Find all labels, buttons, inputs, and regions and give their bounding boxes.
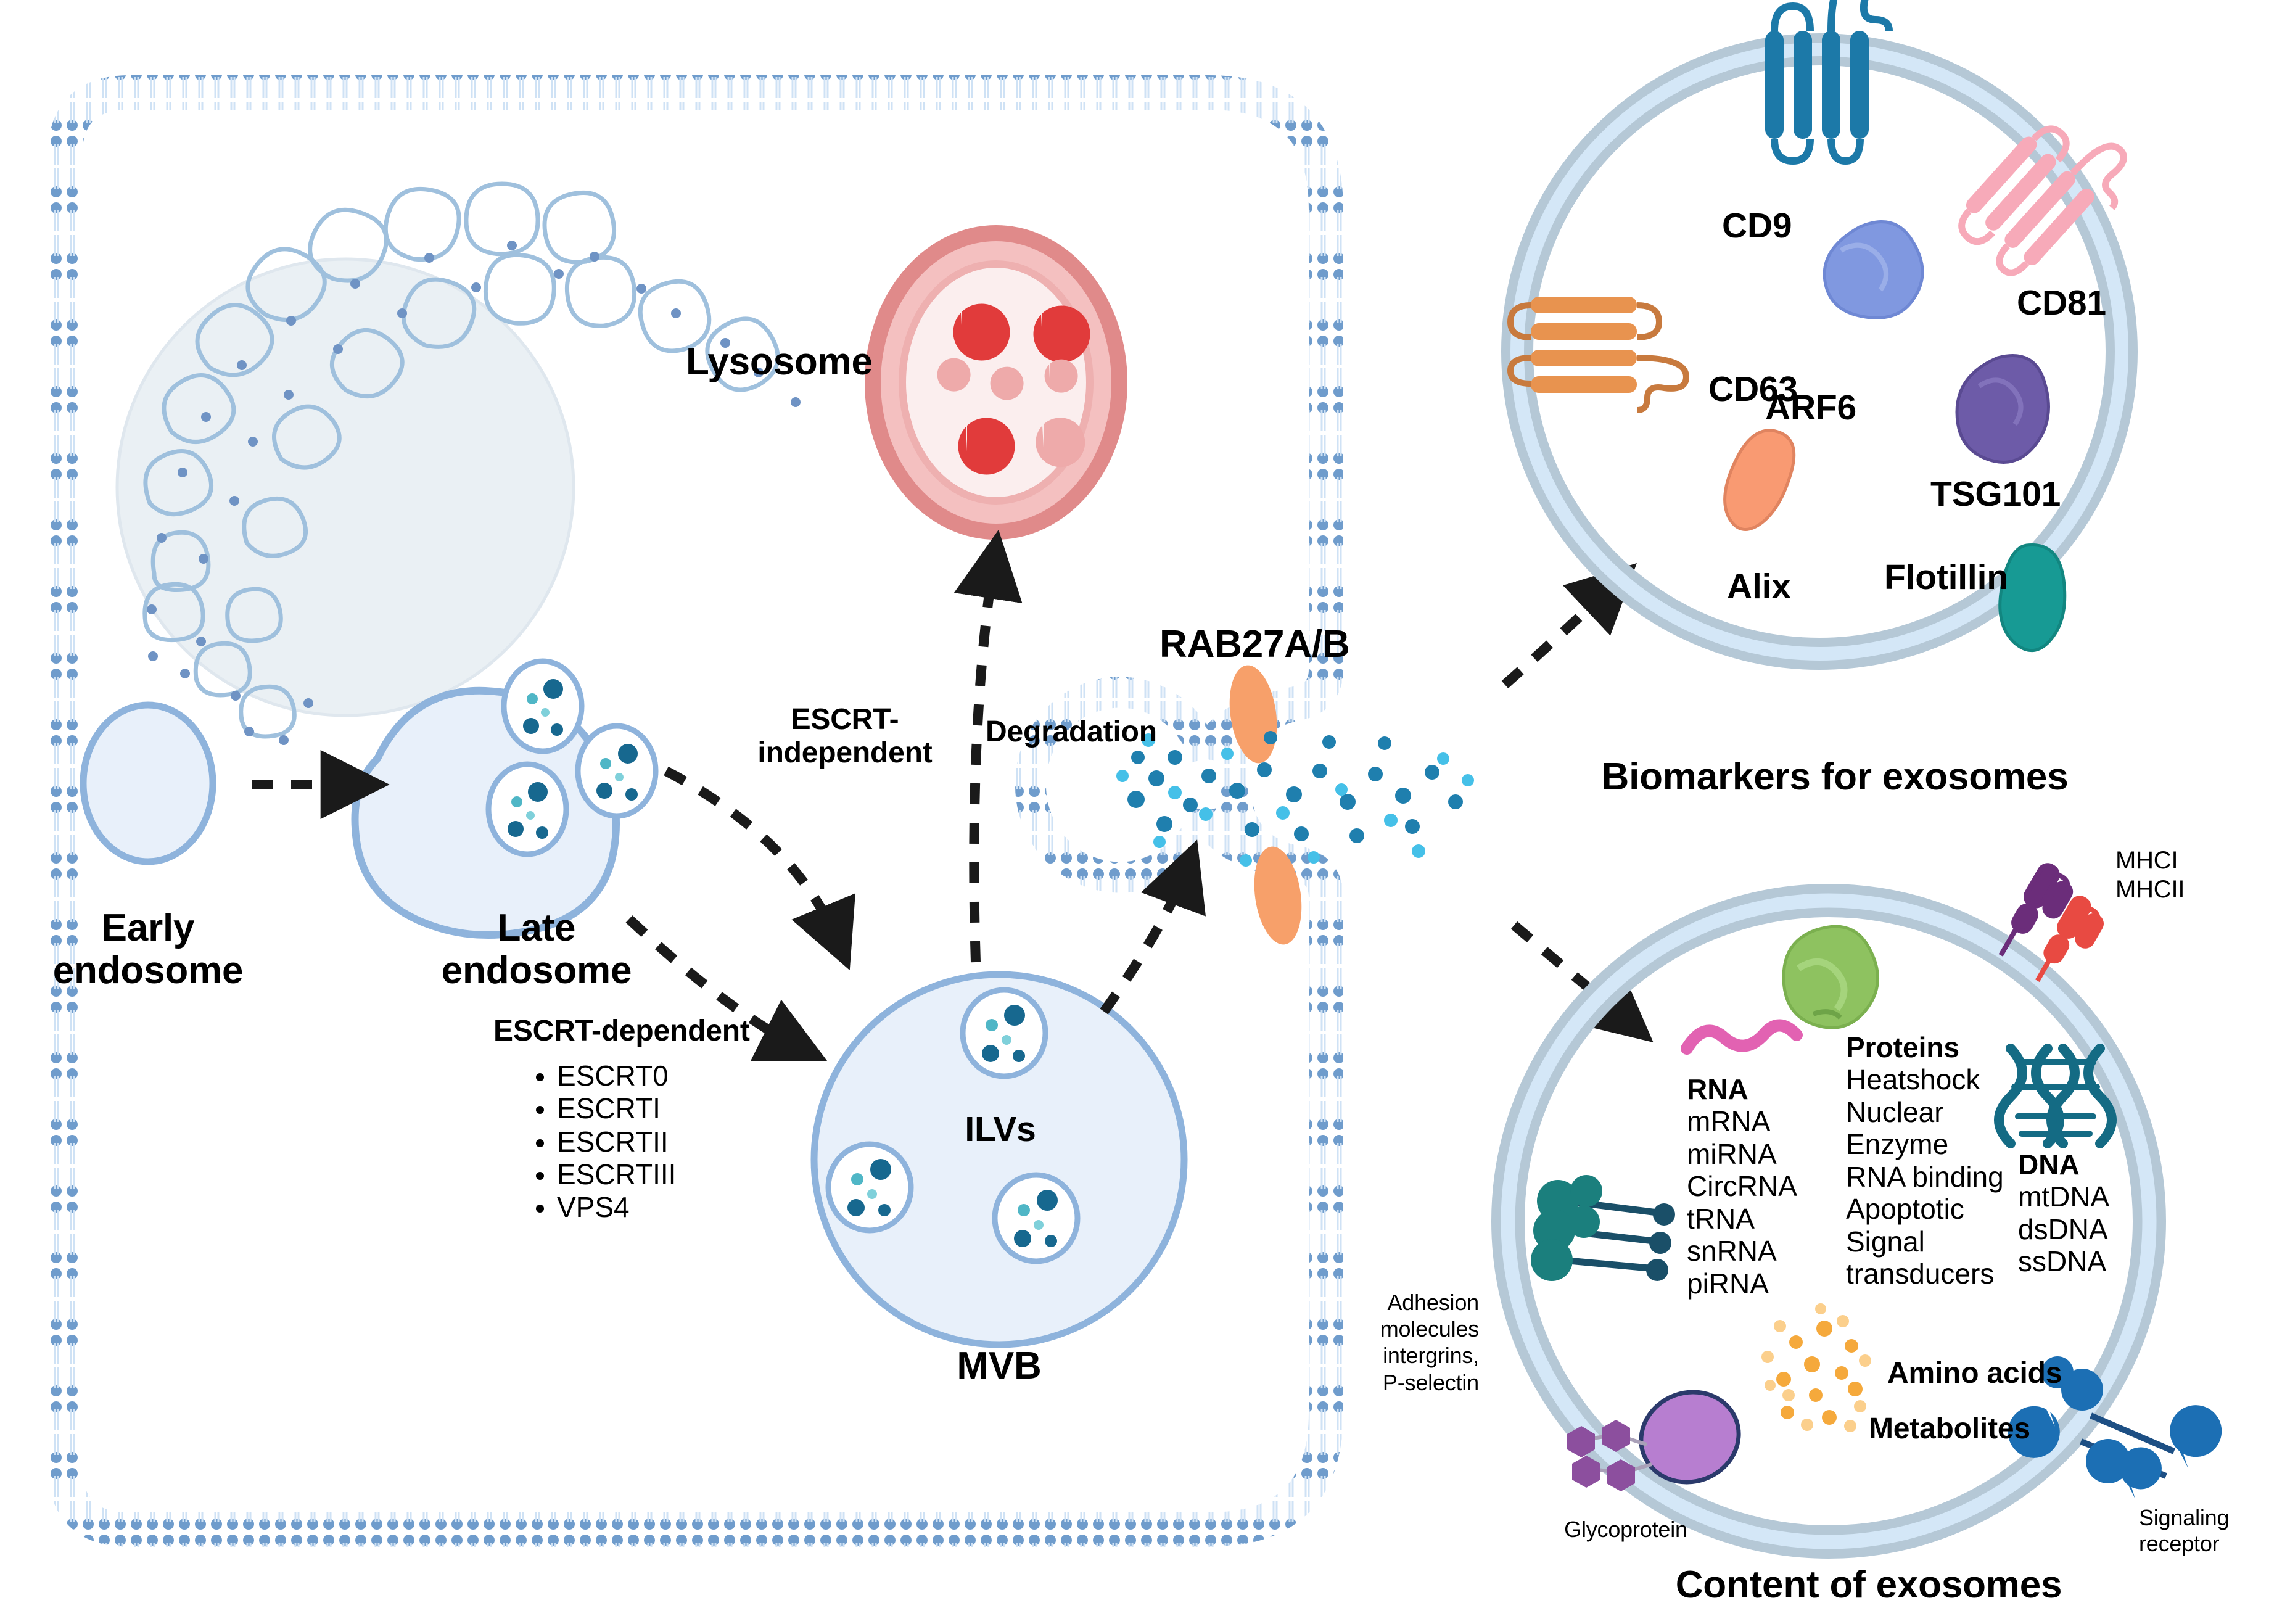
label-metabolites: Metabolites [1869,1412,2030,1446]
protein-item: RNA binding [1846,1161,2004,1193]
arrow-mvb-to-lysosome [974,558,994,962]
label-late-endosome: Late endosome [442,907,632,992]
tsg101-protein-icon [1957,355,2048,462]
dna-item: ssDNA [2018,1245,2109,1277]
protein-item: Nuclear [1846,1096,2004,1128]
escrt-item: VPS4 [557,1191,676,1224]
label-mvb: MVB [957,1345,1041,1387]
biomarker-exosome-icon [1510,0,2144,654]
protein-item: Apoptotic [1846,1193,2004,1225]
adhesion-molecule-icon [1531,1175,1675,1281]
rna-item: mRNA [1687,1105,1797,1137]
group-title-dna: DNA [2018,1148,2109,1181]
label-escrt-dependent: ESCRT-dependent [493,1015,750,1048]
rna-item: snRNA [1687,1235,1797,1267]
label-cd81: CD81 [2017,284,2106,323]
group-title-proteins: Proteins [1846,1031,2004,1063]
dna-helix-icon [1999,1049,2112,1144]
alix-protein-icon [1715,422,1802,538]
label-lysosome: Lysosome [686,340,873,383]
label-signaling-receptor: Signaling receptor [2139,1505,2229,1557]
flotillin-protein-icon [2000,545,2065,650]
early-endosome-icon [83,705,213,862]
label-cd9: CD9 [1722,207,1792,246]
label-tsg101: TSG101 [1930,475,2061,514]
escrt-component-list: ESCRT0 ESCRTI ESCRTII ESCRTIII VPS4 [521,1060,676,1224]
label-degradation: Degradation [986,715,1157,749]
nucleus-icon [117,259,574,715]
label-adhesion-molecules: Adhesion molecules intergrins, P-selecti… [1319,1289,1479,1396]
escrt-item: ESCRTI [557,1092,676,1125]
arrow-to-biomarkers [1505,583,1616,685]
label-arf6: ARF6 [1765,389,1856,428]
label-mhc: MHCI MHCII [2115,846,2185,904]
cd9-tetraspanin-icon [1765,0,1889,161]
arf6-protein-icon [1824,222,1922,318]
rna-item: piRNA [1687,1267,1797,1300]
label-escrt-independent: ESCRT- independent [757,703,932,770]
cd63-tetraspanin-icon [1510,297,1686,410]
label-rab27ab: RAB27A/B [1159,623,1349,666]
rna-item: tRNA [1687,1203,1797,1235]
rna-item: miRNA [1687,1138,1797,1170]
mvb-icon [814,975,1184,1345]
content-group-dna: DNA mtDNA dsDNA ssDNA [2018,1148,2109,1278]
rna-squiggle-icon [1687,1025,1797,1049]
caption-biomarkers: Biomarkers for exosomes [1602,756,2069,798]
arrow-late-to-mvb-independent [666,771,839,944]
rna-item: CircRNA [1687,1170,1797,1202]
group-title-rna: RNA [1687,1073,1797,1105]
protein-item: transducers [1846,1258,2004,1290]
content-group-proteins: Proteins Heatshock Nuclear Enzyme RNA bi… [1846,1031,2004,1290]
label-ilvs: ILVs [965,1110,1036,1150]
lysosome-icon [873,233,1119,532]
caption-content: Content of exosomes [1676,1564,2062,1606]
label-amino-acids: Amino acids [1887,1357,2062,1390]
label-flotillin: Flotillin [1884,558,2008,598]
protein-blob-icon [1784,926,1878,1028]
amino-acid-dots-icon [1761,1303,1871,1432]
escrt-item: ESCRTIII [557,1158,676,1191]
label-glycoprotein: Glycoprotein [1564,1517,1687,1542]
dna-item: mtDNA [2018,1181,2109,1213]
content-group-rna: RNA mRNA miRNA CircRNA tRNA snRNA piRNA [1687,1073,1797,1300]
escrt-item: ESCRT0 [557,1060,676,1092]
escrt-item: ESCRTII [557,1126,676,1158]
protein-item: Heatshock [1846,1063,2004,1095]
protein-item: Signal [1846,1226,2004,1258]
label-early-endosome: Early endosome [53,907,243,992]
label-alix: Alix [1727,567,1791,607]
protein-item: Enzyme [1846,1128,2004,1160]
figure-canvas: Early endosome Late endosome Lysosome MV… [0,0,2290,1624]
dna-item: dsDNA [2018,1213,2109,1245]
